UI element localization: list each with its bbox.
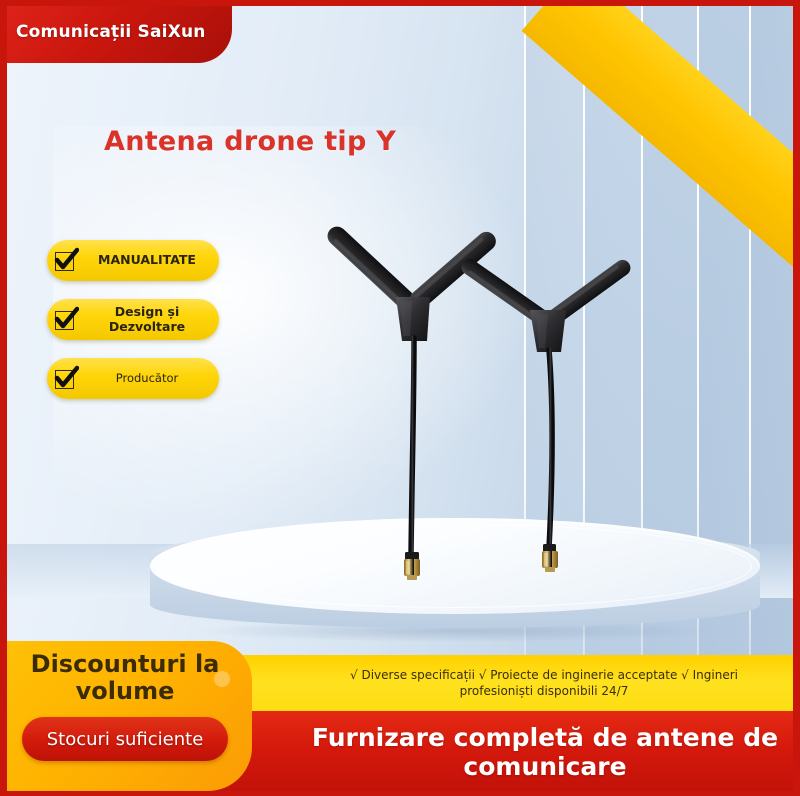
- sma-connector-right: [542, 544, 558, 572]
- feature-badge: Producător: [47, 358, 219, 399]
- product-poster: Comunicații SaiXun Antena drone tip Y MA…: [0, 0, 800, 796]
- stock-badge-label: Stocuri suficiente: [47, 729, 204, 750]
- checkbox-checked-icon: [53, 308, 77, 332]
- frame-border-bottom: [0, 791, 800, 796]
- frame-border-left: [0, 0, 7, 796]
- feature-badge-label: MANUALITATE: [83, 253, 211, 268]
- feature-badge-label: Producător: [83, 372, 211, 386]
- checkbox-checked-icon: [53, 249, 77, 273]
- frame-border-top: [0, 0, 800, 6]
- page-title: Antena drone tip Y: [104, 126, 396, 157]
- frame-border-right: [793, 0, 800, 796]
- stock-badge: Stocuri suficiente: [22, 717, 228, 761]
- feature-badge: Design și Dezvoltare: [47, 299, 219, 340]
- feature-badge-list: MANUALITATE Design și Dezvoltare Producă…: [47, 240, 219, 417]
- spec-line: √ Diverse specificații √ Proiecte de ing…: [306, 659, 782, 709]
- bottom-banner: √ Diverse specificații √ Proiecte de ing…: [6, 655, 794, 791]
- discount-block: Discounturi la volume Stocuri suficiente: [6, 641, 252, 791]
- banner-headline: Furnizare completă de antene de comunica…: [306, 713, 784, 791]
- diagonal-ribbon: [522, 0, 800, 300]
- feature-badge-label: Design și Dezvoltare: [83, 305, 211, 335]
- diagonal-ribbon-clip: [520, 0, 800, 300]
- checkbox-checked-icon: [53, 367, 77, 391]
- antenna-right: [458, 256, 633, 572]
- discount-title: Discounturi la volume: [14, 651, 236, 706]
- brand-name: Comunicații SaiXun: [16, 22, 206, 42]
- brand-tab: Comunicații SaiXun: [0, 0, 232, 63]
- feature-badge: MANUALITATE: [47, 240, 219, 281]
- sma-connector-left: [404, 552, 420, 580]
